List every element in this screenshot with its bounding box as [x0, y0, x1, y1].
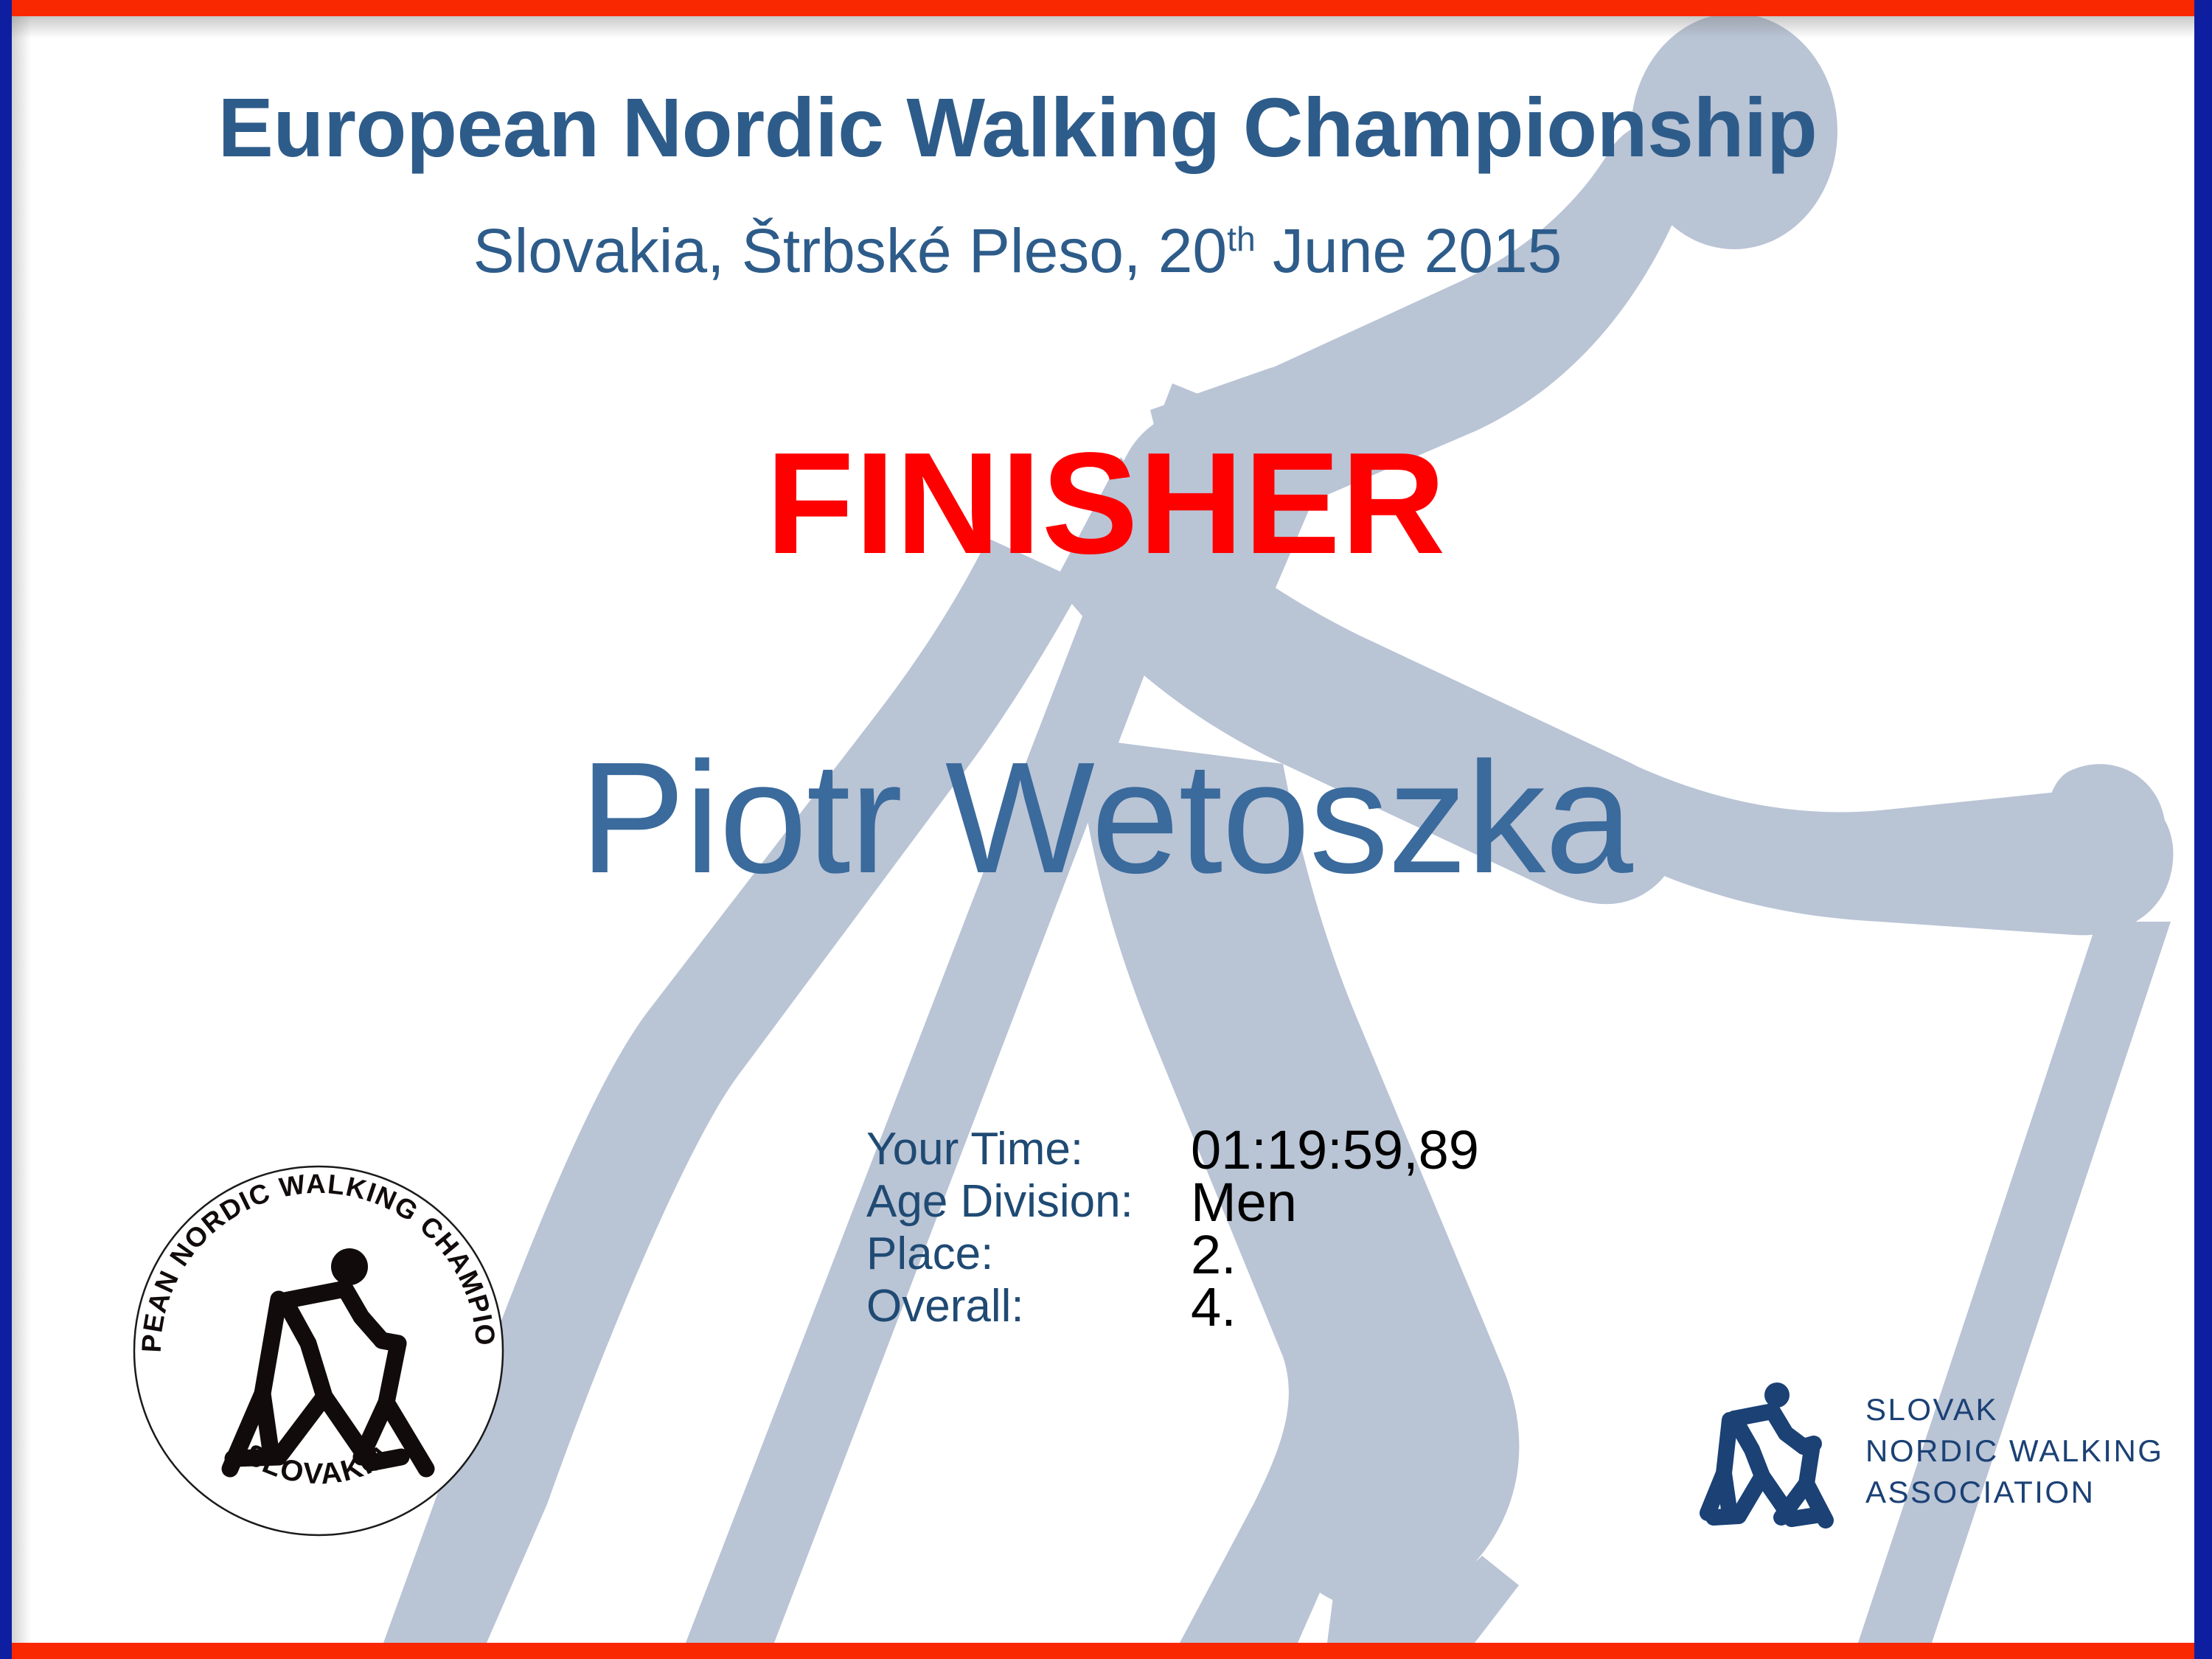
border-right-blue — [2194, 0, 2212, 1659]
results-table: Your Time: 01:19:59,89 Age Division: Men… — [866, 1124, 1479, 1333]
snwa-line-2: NORDIC WALKING — [1865, 1430, 2163, 1472]
event-location-date: Slovakia, Štrbské Pleso, 20th June 2015 — [0, 215, 2035, 287]
result-value-place: 2. — [1191, 1228, 1479, 1281]
snwa-walker-pictogram — [1696, 1373, 1851, 1557]
subtitle-ordinal: th — [1227, 220, 1256, 258]
certificate-page: European Nordic Walking Championship Slo… — [0, 0, 2212, 1659]
status-badge: FINISHER — [0, 420, 2212, 586]
border-left-blue — [0, 0, 12, 1659]
subtitle-suffix: June 2015 — [1256, 216, 1562, 285]
inner-shadow-top — [12, 16, 2194, 38]
result-value-your-time: 01:19:59,89 — [1191, 1124, 1479, 1176]
result-label-overall: Overall: — [866, 1281, 1191, 1333]
inner-shadow-left — [12, 16, 31, 1643]
result-label-your-time: Your Time: — [866, 1124, 1191, 1176]
result-value-age-division: Men — [1191, 1176, 1479, 1228]
athlete-name: Piotr Wetoszka — [0, 726, 2212, 909]
enwc-championship-logo: EUROPEAN NORDIC WALKING CHAMPIONSHIP SLO… — [127, 1159, 510, 1543]
snwa-line-1: SLOVAK — [1865, 1389, 2163, 1430]
result-value-overall: 4. — [1191, 1281, 1479, 1333]
result-label-age-division: Age Division: — [866, 1176, 1191, 1228]
result-label-place: Place: — [866, 1228, 1191, 1281]
snwa-logo-text: SLOVAK NORDIC WALKING ASSOCIATION — [1865, 1389, 2163, 1513]
border-top-red — [0, 0, 2212, 16]
snwa-line-3: ASSOCIATION — [1865, 1472, 2163, 1513]
slovak-nordic-walking-association-logo: SLOVAK NORDIC WALKING ASSOCIATION — [1696, 1373, 2168, 1572]
page-title: European Nordic Walking Championship — [0, 80, 2035, 175]
subtitle-prefix: Slovakia, Štrbské Pleso, 20 — [473, 216, 1228, 285]
border-bottom-red — [0, 1643, 2212, 1659]
